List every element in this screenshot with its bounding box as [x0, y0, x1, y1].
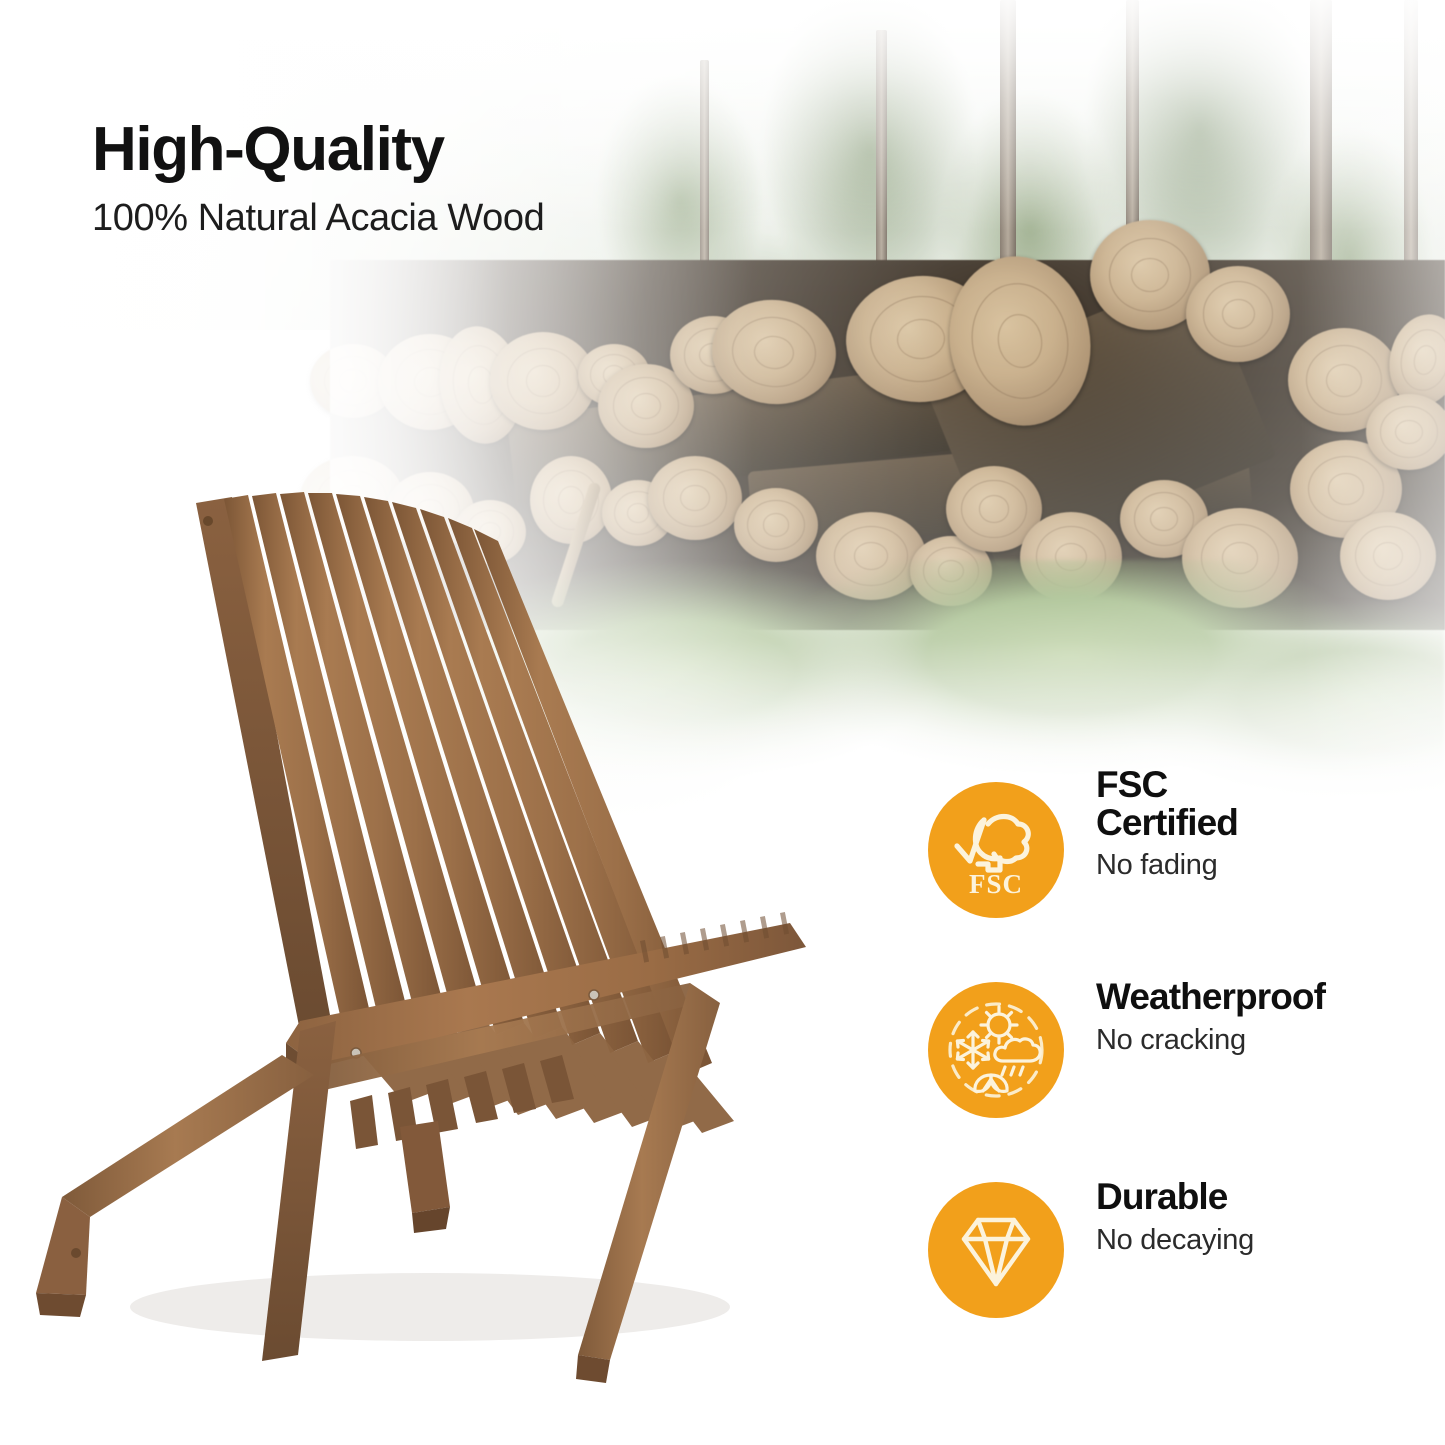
product-marketing-image: High-Quality 100% Natural Acacia Wood: [0, 0, 1445, 1445]
weatherproof-title: Weatherproof: [1096, 978, 1426, 1016]
fsc-subtitle: No fading: [1096, 850, 1426, 882]
fsc-tree-checkmark-icon: FSC: [944, 798, 1048, 902]
durable-badge: [928, 1182, 1064, 1318]
durable-title: Durable: [1096, 1178, 1426, 1216]
weatherproof-badge: [928, 982, 1064, 1118]
fsc-title: FSC Certified: [1096, 766, 1426, 841]
durable-subtitle: No decaying: [1096, 1225, 1426, 1257]
fsc-logo-text: FSC: [969, 869, 1023, 899]
weatherproof-text-block: Weatherproof No cracking: [1096, 978, 1426, 1057]
page-subtitle: 100% Natural Acacia Wood: [92, 198, 544, 240]
feature-item-durable: Durable No decaying: [928, 1170, 1428, 1370]
product-chair-image: [0, 455, 900, 1400]
four-seasons-weather-icon: [941, 995, 1051, 1105]
feature-item-fsc: FSC FSC Certified No fading: [928, 770, 1428, 970]
durable-text-block: Durable No decaying: [1096, 1178, 1426, 1257]
diamond-gem-icon: [944, 1198, 1048, 1302]
fsc-badge: FSC: [928, 782, 1064, 918]
page-title: High-Quality: [92, 118, 544, 182]
headline-block: High-Quality 100% Natural Acacia Wood: [92, 118, 544, 240]
feature-list: FSC FSC Certified No fading: [928, 770, 1428, 1370]
fsc-text-block: FSC Certified No fading: [1096, 766, 1426, 882]
weatherproof-subtitle: No cracking: [1096, 1025, 1426, 1057]
feature-item-weatherproof: Weatherproof No cracking: [928, 970, 1428, 1170]
